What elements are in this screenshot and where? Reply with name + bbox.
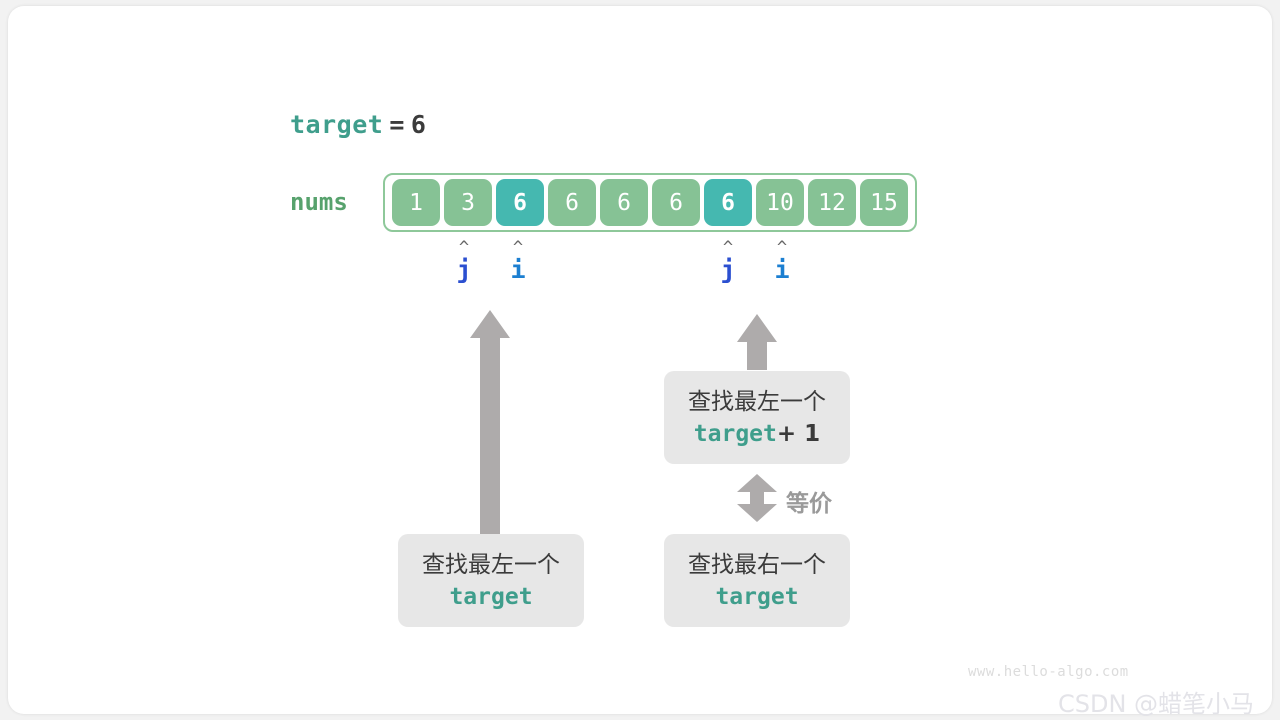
caret-icon: ^ (498, 240, 538, 256)
note-find-leftmost-target-plus-one: 查找最左一个 target+ 1 (664, 371, 850, 464)
pointer-i-left: ^ i (498, 240, 538, 284)
note-target-token: target (449, 584, 532, 610)
site-watermark: www.hello-algo.com (968, 664, 1129, 680)
note-line-1: 查找最左一个 (688, 386, 826, 418)
array-cell: 12 (808, 179, 856, 226)
pointer-label: j (444, 256, 484, 284)
array-cell: 6 (704, 179, 752, 226)
array-cell: 15 (860, 179, 908, 226)
white-card (8, 6, 1272, 714)
array-cell: 6 (600, 179, 648, 226)
array-cell: 6 (652, 179, 700, 226)
note-line-2: target (715, 581, 798, 613)
pointer-i-right: ^ i (762, 240, 802, 284)
note-suffix-token: + 1 (777, 421, 820, 447)
array-cell: 1 (392, 179, 440, 226)
array-cell: 10 (756, 179, 804, 226)
caret-icon: ^ (708, 240, 748, 256)
note-line-2: target (449, 581, 532, 613)
arrow-shaft (480, 338, 500, 535)
target-variable: target (290, 110, 383, 139)
note-line-1: 查找最左一个 (422, 549, 560, 581)
pointer-label: i (498, 256, 538, 284)
arrow-head-up-icon (737, 474, 777, 492)
target-value: 6 (411, 110, 427, 139)
equals-operator: = (383, 110, 411, 139)
note-find-leftmost-target: 查找最左一个 target (398, 534, 584, 627)
pointer-label: i (762, 256, 802, 284)
csdn-watermark: CSDN @蜡笔小马 (1058, 684, 1254, 719)
arrow-head-icon (470, 310, 510, 338)
note-target-token: target (715, 584, 798, 610)
nums-array: 1366666101215 (383, 173, 917, 232)
equivalence-arrow (737, 474, 777, 522)
pointer-label: j (708, 256, 748, 284)
arrow-head-down-icon (737, 504, 777, 522)
arrow-left-note-to-array (470, 310, 510, 535)
note-line-2: target+ 1 (694, 418, 820, 450)
arrow-shaft (747, 342, 767, 370)
note-find-rightmost-target: 查找最右一个 target (664, 534, 850, 627)
array-label: nums (290, 188, 348, 216)
arrow-right-note-to-array (737, 314, 777, 370)
array-cell: 6 (496, 179, 544, 226)
arrow-head-icon (737, 314, 777, 342)
note-line-1: 查找最右一个 (688, 549, 826, 581)
arrow-shaft (750, 492, 764, 504)
target-expression: target=6 (290, 110, 426, 139)
equivalence-label: 等价 (786, 484, 832, 518)
pointer-j-right: ^ j (708, 240, 748, 284)
caret-icon: ^ (762, 240, 802, 256)
pointer-j-left: ^ j (444, 240, 484, 284)
diagram-canvas: target=6 nums 1366666101215 ^ j ^ i ^ j … (0, 0, 1280, 720)
array-cell: 6 (548, 179, 596, 226)
array-cell: 3 (444, 179, 492, 226)
note-target-token: target (694, 421, 777, 447)
caret-icon: ^ (444, 240, 484, 256)
